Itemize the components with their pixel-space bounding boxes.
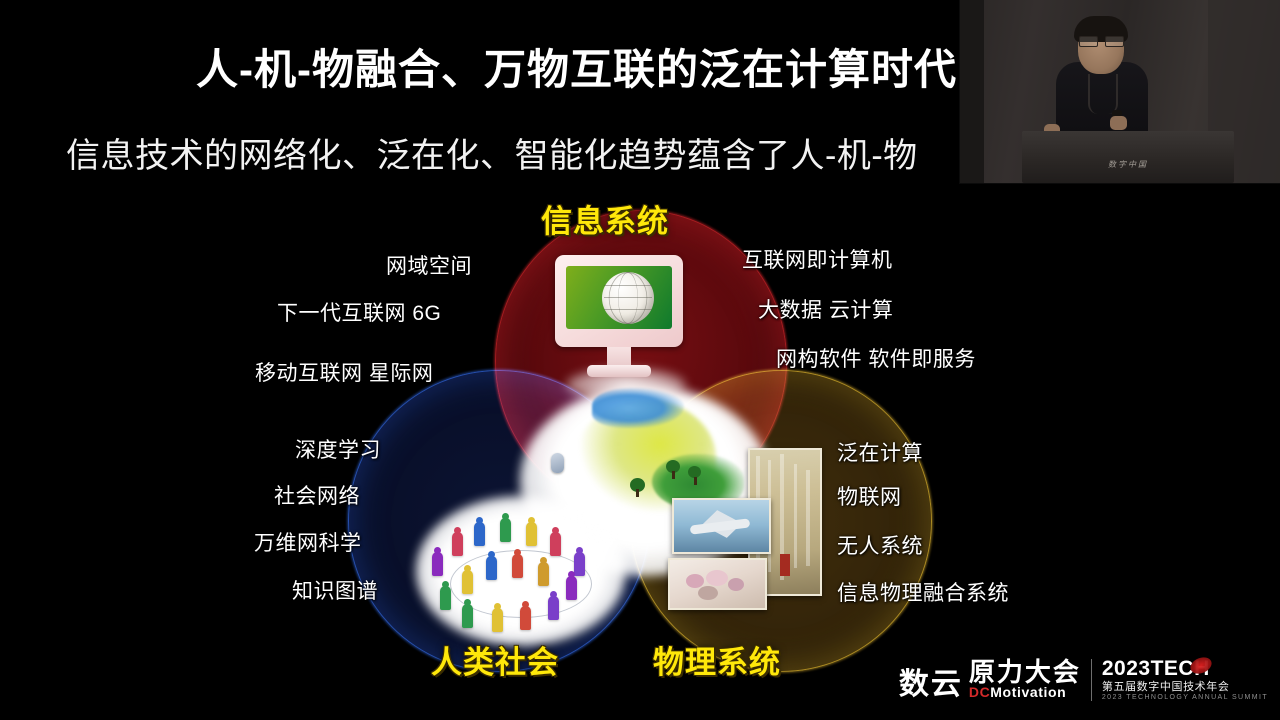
annotation-bottom-right-1: 泛在计算 [837,437,923,467]
monitor-globe-icon [555,255,683,383]
page-subtitle: 信息技术的网络化、泛在化、智能化趋势蕴含了人-机-物 [66,128,1086,177]
annotation-top-left-1: 网域空间 [386,250,472,280]
event-branding: 数云 原力大会 DCMotivation 2023TECH 第五届数字中国技术年… [899,657,1268,702]
brand-divider [1091,659,1092,701]
tree-icon [666,460,684,482]
podium: 数字中国 [1022,131,1234,183]
speaker-video-overlay[interactable]: 数字中国 [959,0,1280,184]
conference-logo-cn2: 原力大会 [969,659,1081,685]
annotation-bottom-left-2: 社会网络 [274,480,360,510]
annotation-top-right-1: 互联网即计算机 [742,244,893,274]
people-network-icon [416,496,626,646]
podium-label: 数字中国 [1022,159,1234,170]
annotation-bottom-right-4: 信息物理融合系统 [837,577,1009,607]
venn-label-human-society: 人类社会 [431,637,559,682]
annotation-top-right-3: 网构软件 软件即服务 [776,343,976,373]
computer-mouse-icon [551,453,564,473]
speaker-hand-right [1110,116,1127,130]
summit-subtitle-cn: 第五届数字中国技术年会 [1102,681,1230,694]
tree-icon [688,466,706,488]
speaker-glasses-icon [1079,36,1124,45]
annotation-bottom-left-1: 深度学习 [295,434,381,464]
video-wall-panel-left [960,0,984,183]
annotation-bottom-right-3: 无人系统 [837,530,923,560]
summit-subtitle-en: 2023 TECHNOLOGY ANNUAL SUMMIT [1102,694,1268,702]
annotation-top-left-3: 移动互联网 星际网 [255,357,433,387]
venn-label-physical-system: 物理系统 [653,637,781,682]
speaker-lanyard [1088,74,1118,114]
summit-year: 2023TECH [1102,657,1210,681]
annotation-bottom-left-3: 万维网科学 [254,527,362,557]
annotation-top-right-2: 大数据 云计算 [758,294,893,324]
annotation-top-left-2: 下一代互联网 6G [277,297,441,327]
summit-logo: 2023TECH 第五届数字中国技术年会 2023 TECHNOLOGY ANN… [1102,657,1268,702]
conference-logo-en: DCMotivation [969,685,1066,700]
tree-icon [630,478,648,500]
venn-label-information-system: 信息系统 [541,196,669,241]
conference-logo-cn: 数云 [899,670,963,700]
aircraft-photo [672,498,771,554]
annotation-bottom-left-4: 知识图谱 [292,575,378,605]
slide-canvas: 人-机-物融合、万物互联的泛在计算时代 信息技术的网络化、泛在化、智能化趋势蕴含… [0,0,1280,720]
conference-logo: 数云 原力大会 DCMotivation [899,659,1081,700]
annotation-bottom-right-2: 物联网 [837,481,902,511]
medical-photo [668,558,767,610]
